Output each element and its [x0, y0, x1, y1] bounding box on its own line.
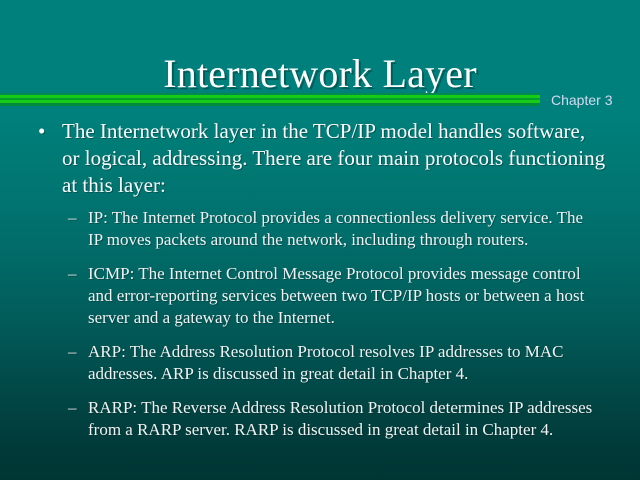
chapter-label: Chapter 3 [551, 92, 612, 109]
sub-bullet-list: – IP: The Internet Protocol provides a c… [0, 207, 640, 441]
sub-bullet-text-icmp: ICMP: The Internet Control Message Proto… [88, 264, 584, 327]
slide-body: • The Internetwork layer in the TCP/IP m… [0, 118, 640, 453]
sub-bullet-text-ip: IP: The Internet Protocol provides a con… [88, 208, 583, 249]
list-item: – IP: The Internet Protocol provides a c… [0, 207, 640, 251]
divider-line [0, 93, 540, 108]
list-item: – ARP: The Address Resolution Protocol r… [0, 341, 640, 385]
bullet-dash-icon: – [68, 207, 77, 229]
sub-bullet-text-rarp: RARP: The Reverse Address Resolution Pro… [88, 398, 592, 439]
bullet-dot-icon: • [38, 118, 45, 145]
bullet-dash-icon: – [68, 263, 77, 285]
divider-band-dark-bottom [0, 103, 540, 106]
bullet-dash-icon: – [68, 341, 77, 363]
list-item: – ICMP: The Internet Control Message Pro… [0, 263, 640, 329]
bullet-dash-icon: – [68, 397, 77, 419]
list-item: – RARP: The Reverse Address Resolution P… [0, 397, 640, 441]
slide-title: Internetwork Layer [163, 51, 476, 97]
presentation-slide: Internetwork Layer Chapter 3 • The Inter… [0, 0, 640, 480]
bullet-level1: • The Internetwork layer in the TCP/IP m… [0, 118, 640, 199]
bullet-level1-text: The Internetwork layer in the TCP/IP mod… [62, 119, 605, 197]
sub-bullet-text-arp: ARP: The Address Resolution Protocol res… [88, 342, 564, 383]
title-divider-row: Chapter 3 [0, 93, 640, 115]
